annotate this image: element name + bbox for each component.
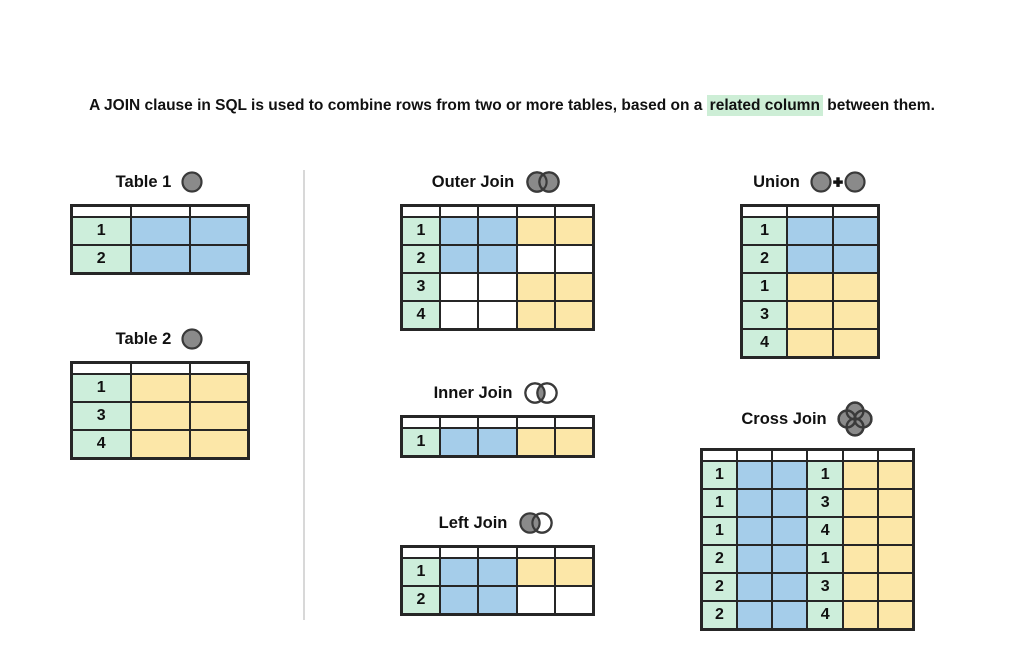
- subtitle-text-after: between them.: [823, 97, 935, 114]
- header-cell: [833, 206, 879, 218]
- data-cell: [833, 301, 879, 329]
- table-header-row: [402, 417, 594, 429]
- subtitle-highlight: related column: [707, 95, 823, 116]
- table-1-label: Table 1: [116, 173, 172, 192]
- data-cell: [555, 217, 593, 245]
- key-cell: 1: [742, 273, 788, 301]
- key-cell: 2: [702, 601, 737, 630]
- data-cell: [517, 586, 555, 615]
- inner-join-label: Inner Join: [434, 384, 513, 403]
- data-cell: [843, 461, 878, 489]
- key-cell: 1: [702, 517, 737, 545]
- section-divider: [303, 170, 305, 620]
- venn-intersection-filled-icon: [521, 381, 561, 405]
- data-cell: [517, 273, 555, 301]
- block-left-join: Left Join12: [400, 511, 595, 616]
- data-cell: [478, 301, 516, 330]
- two-circles-plus-icon: [809, 170, 867, 194]
- table-row: 4: [402, 301, 594, 330]
- data-cell: [478, 586, 516, 615]
- data-cell: [440, 586, 478, 615]
- key-cell: 1: [402, 428, 440, 457]
- table-row: 2: [402, 245, 594, 273]
- data-cell: [833, 329, 879, 358]
- header-cell: [402, 206, 440, 218]
- page-subtitle: A JOIN clause in SQL is used to combine …: [0, 97, 1024, 115]
- left-join-label: Left Join: [439, 514, 508, 533]
- data-cell: [878, 573, 913, 601]
- data-cell: [478, 217, 516, 245]
- data-cell: [517, 217, 555, 245]
- data-cell: [772, 461, 807, 489]
- header-cell: [402, 547, 440, 559]
- data-cell: [772, 545, 807, 573]
- table-row: 1: [402, 428, 594, 457]
- header-cell: [131, 363, 190, 375]
- key-cell: 2: [702, 545, 737, 573]
- table-row: 1: [72, 217, 249, 245]
- data-cell: [833, 217, 879, 245]
- data-cell: [131, 430, 190, 459]
- table-row: 11: [702, 461, 914, 489]
- union-table: 12134: [740, 204, 880, 359]
- key-cell: 4: [402, 301, 440, 330]
- data-cell: [440, 558, 478, 586]
- header-cell: [742, 206, 788, 218]
- header-cell: [737, 450, 772, 462]
- table-row: 21: [702, 545, 914, 573]
- table-row: 1: [402, 217, 594, 245]
- data-cell: [131, 245, 190, 274]
- header-cell: [190, 363, 249, 375]
- table-row: 2: [402, 586, 594, 615]
- data-cell: [737, 573, 772, 601]
- header-cell: [190, 206, 249, 218]
- table-row: 1: [72, 374, 249, 402]
- data-cell: [787, 329, 833, 358]
- key-cell: 4: [807, 517, 842, 545]
- data-cell: [555, 428, 593, 457]
- data-cell: [843, 545, 878, 573]
- data-cell: [190, 402, 249, 430]
- header-cell: [478, 547, 516, 559]
- block-outer-join: Outer Join1234: [400, 170, 595, 331]
- header-cell: [440, 206, 478, 218]
- union-title: Union: [740, 170, 880, 194]
- data-cell: [555, 301, 593, 330]
- data-cell: [772, 489, 807, 517]
- data-cell: [478, 245, 516, 273]
- header-cell: [131, 206, 190, 218]
- table-row: 1: [742, 273, 879, 301]
- header-cell: [843, 450, 878, 462]
- key-cell: 4: [807, 601, 842, 630]
- inner-join-title: Inner Join: [400, 381, 595, 405]
- header-cell: [517, 417, 555, 429]
- table-2-title: Table 2: [70, 327, 250, 351]
- data-cell: [190, 430, 249, 459]
- key-cell: 4: [72, 430, 131, 459]
- data-cell: [787, 245, 833, 273]
- data-cell: [478, 273, 516, 301]
- data-cell: [131, 217, 190, 245]
- data-cell: [843, 601, 878, 630]
- data-cell: [833, 273, 879, 301]
- outer-join-title: Outer Join: [400, 170, 595, 194]
- table-header-row: [72, 206, 249, 218]
- data-cell: [843, 489, 878, 517]
- table-row: 24: [702, 601, 914, 630]
- header-cell: [517, 547, 555, 559]
- table-row: 13: [702, 489, 914, 517]
- inner-join-table: 1: [400, 415, 595, 458]
- data-cell: [878, 461, 913, 489]
- outer-join-label: Outer Join: [432, 173, 515, 192]
- data-cell: [555, 273, 593, 301]
- header-cell: [517, 206, 555, 218]
- key-cell: 1: [402, 217, 440, 245]
- data-cell: [190, 374, 249, 402]
- header-cell: [555, 547, 593, 559]
- data-cell: [517, 428, 555, 457]
- header-cell: [402, 417, 440, 429]
- key-cell: 3: [402, 273, 440, 301]
- key-cell: 2: [702, 573, 737, 601]
- table-row: 2: [742, 245, 879, 273]
- table-row: 1: [402, 558, 594, 586]
- table-row: 2: [72, 245, 249, 274]
- data-cell: [555, 245, 593, 273]
- key-cell: 1: [702, 489, 737, 517]
- key-cell: 2: [402, 245, 440, 273]
- data-cell: [772, 517, 807, 545]
- data-cell: [440, 428, 478, 457]
- key-cell: 3: [72, 402, 131, 430]
- header-cell: [878, 450, 913, 462]
- header-cell: [555, 417, 593, 429]
- table-2-table: 134: [70, 361, 250, 460]
- data-cell: [555, 586, 593, 615]
- table-row: 1: [742, 217, 879, 245]
- data-cell: [787, 273, 833, 301]
- key-cell: 2: [742, 245, 788, 273]
- data-cell: [878, 517, 913, 545]
- single-circle-icon: [180, 327, 204, 351]
- data-cell: [440, 245, 478, 273]
- key-cell: 1: [402, 558, 440, 586]
- header-cell: [440, 417, 478, 429]
- block-inner-join: Inner Join1: [400, 381, 595, 458]
- data-cell: [478, 558, 516, 586]
- data-cell: [737, 517, 772, 545]
- header-cell: [702, 450, 737, 462]
- cross-join-table: 111314212324: [700, 448, 915, 631]
- four-circles-cloverleaf-icon: [836, 400, 874, 438]
- table-row: 23: [702, 573, 914, 601]
- data-cell: [737, 489, 772, 517]
- data-cell: [878, 545, 913, 573]
- table-header-row: [72, 363, 249, 375]
- data-cell: [440, 301, 478, 330]
- cross-join-label: Cross Join: [741, 410, 826, 429]
- table-header-row: [402, 547, 594, 559]
- data-cell: [440, 217, 478, 245]
- header-cell: [72, 363, 131, 375]
- cross-join-title: Cross Join: [700, 400, 915, 438]
- union-label: Union: [753, 173, 800, 192]
- table-row: 4: [742, 329, 879, 358]
- key-cell: 2: [402, 586, 440, 615]
- block-table-2: Table 2134: [70, 327, 250, 460]
- table-2-label: Table 2: [116, 330, 172, 349]
- table-row: 3: [402, 273, 594, 301]
- key-cell: 1: [702, 461, 737, 489]
- key-cell: 1: [807, 545, 842, 573]
- header-cell: [478, 206, 516, 218]
- block-table-1: Table 112: [70, 170, 250, 275]
- key-cell: 2: [72, 245, 131, 274]
- data-cell: [878, 489, 913, 517]
- table-row: 3: [742, 301, 879, 329]
- data-cell: [517, 301, 555, 330]
- data-cell: [440, 273, 478, 301]
- data-cell: [737, 461, 772, 489]
- data-cell: [772, 601, 807, 630]
- left-join-title: Left Join: [400, 511, 595, 535]
- single-circle-icon: [180, 170, 204, 194]
- table-row: 14: [702, 517, 914, 545]
- data-cell: [555, 558, 593, 586]
- block-cross-join: Cross Join111314212324: [700, 400, 915, 631]
- data-cell: [517, 558, 555, 586]
- data-cell: [787, 301, 833, 329]
- table-header-row: [742, 206, 879, 218]
- data-cell: [843, 573, 878, 601]
- table-row: 4: [72, 430, 249, 459]
- key-cell: 3: [807, 489, 842, 517]
- header-cell: [555, 206, 593, 218]
- key-cell: 3: [807, 573, 842, 601]
- data-cell: [190, 245, 249, 274]
- key-cell: 1: [742, 217, 788, 245]
- header-cell: [787, 206, 833, 218]
- table-header-row: [702, 450, 914, 462]
- data-cell: [737, 601, 772, 630]
- data-cell: [787, 217, 833, 245]
- venn-both-filled-icon: [523, 170, 563, 194]
- key-cell: 1: [807, 461, 842, 489]
- data-cell: [833, 245, 879, 273]
- header-cell: [440, 547, 478, 559]
- data-cell: [737, 545, 772, 573]
- data-cell: [843, 517, 878, 545]
- data-cell: [478, 428, 516, 457]
- data-cell: [517, 245, 555, 273]
- data-cell: [878, 601, 913, 630]
- block-union: Union12134: [740, 170, 880, 359]
- key-cell: 3: [742, 301, 788, 329]
- key-cell: 1: [72, 217, 131, 245]
- data-cell: [190, 217, 249, 245]
- subtitle-text-before: A JOIN clause in SQL is used to combine …: [89, 97, 707, 114]
- venn-left-filled-icon: [516, 511, 556, 535]
- header-cell: [772, 450, 807, 462]
- header-cell: [807, 450, 842, 462]
- left-join-table: 12: [400, 545, 595, 616]
- table-row: 3: [72, 402, 249, 430]
- header-cell: [478, 417, 516, 429]
- data-cell: [772, 573, 807, 601]
- key-cell: 4: [742, 329, 788, 358]
- header-cell: [72, 206, 131, 218]
- table-header-row: [402, 206, 594, 218]
- table-1-table: 12: [70, 204, 250, 275]
- key-cell: 1: [72, 374, 131, 402]
- outer-join-table: 1234: [400, 204, 595, 331]
- data-cell: [131, 402, 190, 430]
- data-cell: [131, 374, 190, 402]
- table-1-title: Table 1: [70, 170, 250, 194]
